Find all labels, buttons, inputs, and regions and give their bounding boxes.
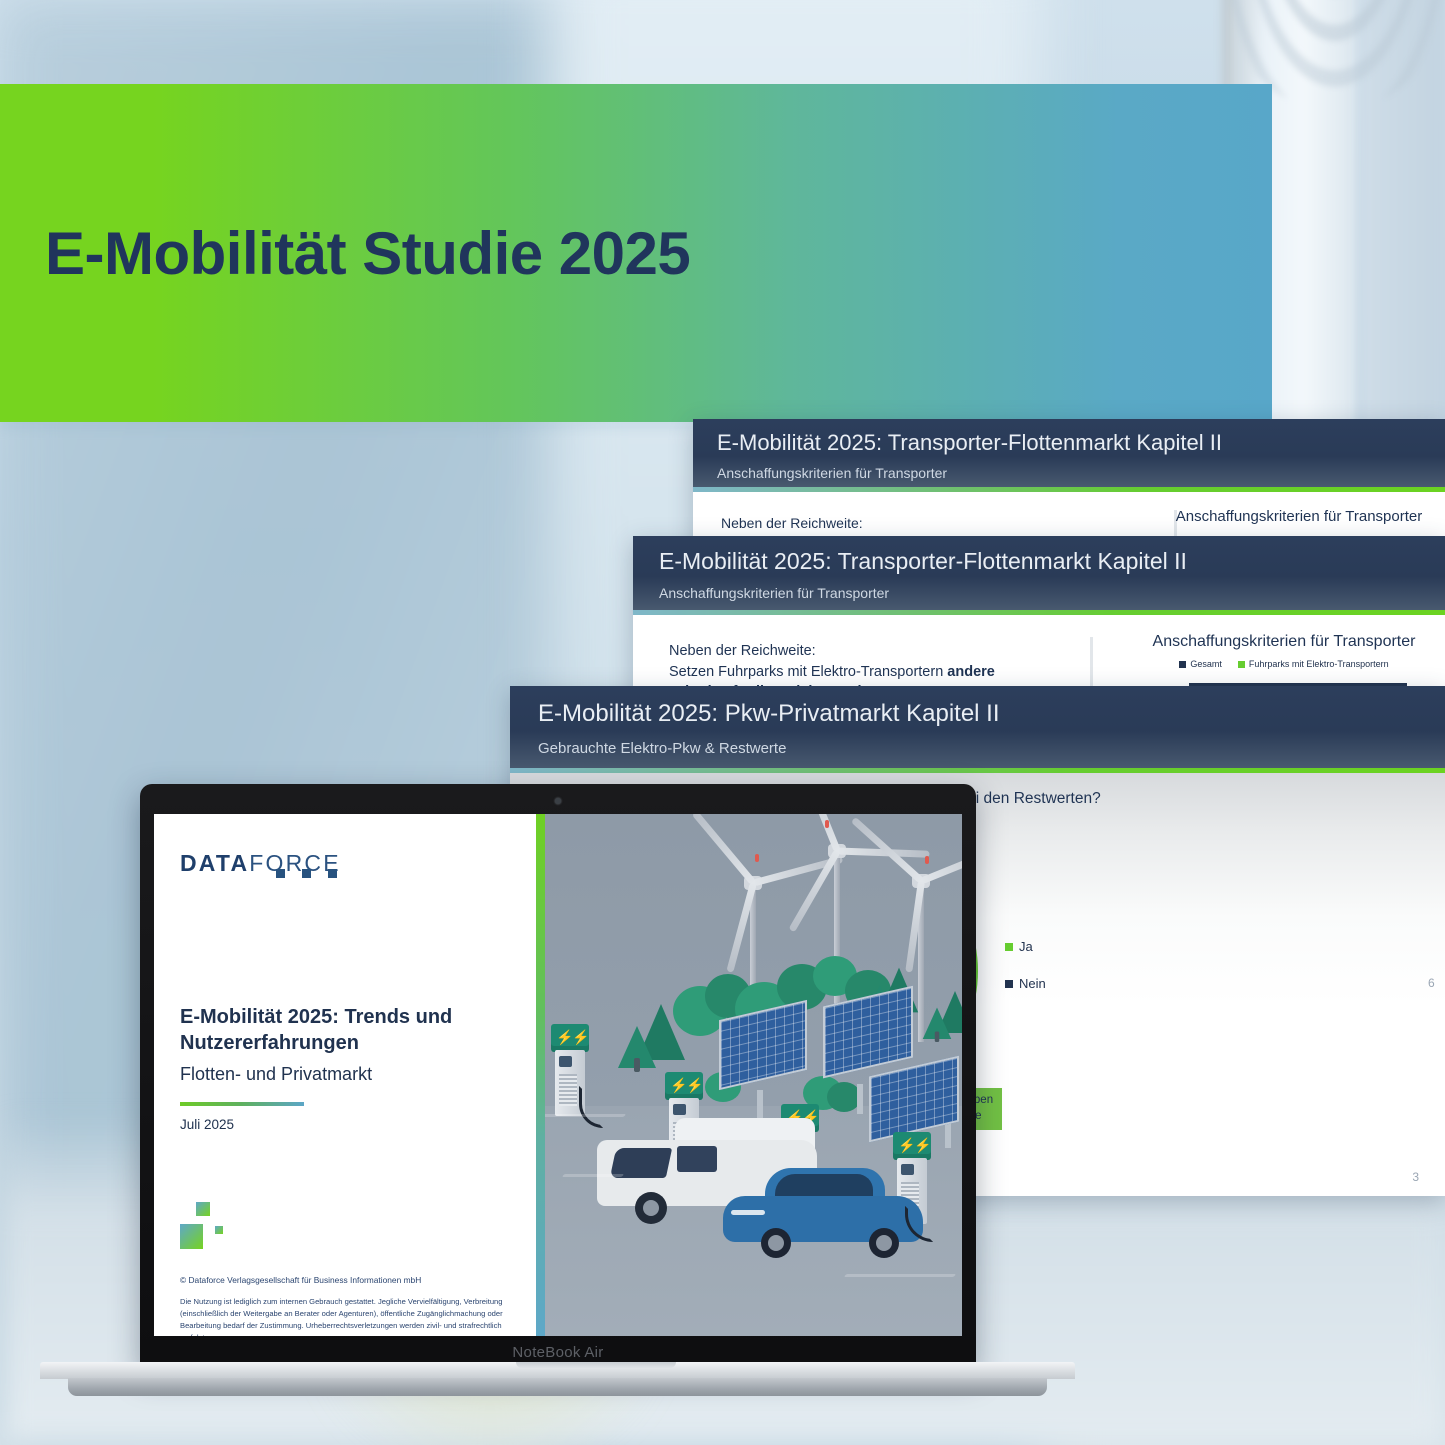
ev-scene-illustration: ⚡⚡ ⚡⚡ ⚡⚡	[545, 814, 962, 1336]
bush-icon	[827, 1082, 861, 1112]
car-wheel-rear	[869, 1228, 899, 1258]
question-line-2b: andere	[947, 664, 995, 680]
slide-subtitle: Anschaffungskriterien für Transporter	[717, 465, 947, 481]
turbine-blade	[691, 814, 755, 885]
decorative-squares-icon	[180, 1202, 250, 1262]
van-side-window	[677, 1146, 717, 1172]
title-slide-heading: E-Mobilität 2025: Trends und Nutzererfah…	[180, 1004, 510, 1057]
bolt-icon: ⚡	[898, 1138, 915, 1152]
question-line-1: Neben der Reichweite:	[669, 643, 816, 659]
chart-title: Anschaffungskriterien für Transporter	[1123, 633, 1445, 651]
slide-title: E-Mobilität 2025: Pkw-Privatmarkt Kapite…	[538, 700, 1000, 728]
bolt-icon: ⚡	[556, 1030, 573, 1044]
van-wheel-front	[635, 1192, 667, 1224]
laptop-mockup: DATAFORCE E-Mobilität 2025: Trends und N…	[40, 784, 1075, 1404]
turbine-blade	[788, 849, 840, 932]
wheel-hub	[876, 1235, 892, 1251]
solar-panel-leg	[945, 1122, 951, 1148]
fir-tree-icon	[937, 991, 962, 1033]
ground-streak	[844, 1274, 956, 1277]
question-line-2a: Setzen Fuhrparks mit Elektro-Transporter…	[669, 664, 947, 680]
bolt-icon: ⚡	[572, 1030, 589, 1044]
charger-cap: ⚡⚡	[893, 1132, 931, 1160]
legend-item-gesamt: Gesamt	[1179, 659, 1222, 669]
legal-text: Die Nutzung ist lediglich zum internen G…	[180, 1296, 520, 1336]
title-slide-date: Juli 2025	[180, 1117, 234, 1132]
car-wheel-front	[761, 1228, 791, 1258]
charger-cap: ⚡⚡	[551, 1024, 589, 1052]
laptop-brand-label: NoteBook Air	[512, 1344, 603, 1361]
chart-legend: Gesamt Fuhrparks mit Elektro-Transporter…	[1123, 659, 1445, 669]
bolt-icon: ⚡	[686, 1078, 703, 1092]
logo-square-3	[328, 869, 337, 878]
wheel-hub	[643, 1200, 659, 1216]
decor-square-1	[196, 1202, 210, 1216]
title-slide-illustration: ⚡⚡ ⚡⚡ ⚡⚡	[545, 814, 962, 1336]
fir-trunk	[935, 1032, 940, 1043]
charger-vent	[559, 1074, 577, 1106]
laptop-screen[interactable]: DATAFORCE E-Mobilität 2025: Trends und N…	[154, 814, 962, 1336]
slide-header: E-Mobilität 2025: Transporter-Flottenmar…	[633, 536, 1445, 610]
laptop-base	[40, 1362, 1075, 1402]
slide-title: E-Mobilität 2025: Transporter-Flottenmar…	[717, 430, 1222, 456]
legend-swatch-gesamt	[1179, 661, 1186, 668]
hero-banner: E-Mobilität Studie 2025	[0, 84, 1272, 422]
electric-car-icon	[723, 1166, 933, 1266]
turbine-mast	[834, 852, 840, 1024]
outer-page-number: 6	[1428, 976, 1435, 990]
slide-page-number: 3	[1412, 1170, 1419, 1184]
turbine-tip	[825, 820, 829, 828]
title-slide: DATAFORCE E-Mobilität 2025: Trends und N…	[154, 814, 962, 1336]
laptop-base-bottom	[68, 1378, 1047, 1396]
bolt-icon: ⚡	[670, 1078, 687, 1092]
slide-header: E-Mobilität 2025: Pkw-Privatmarkt Kapite…	[510, 686, 1445, 768]
fir-tree-icon	[637, 1004, 685, 1060]
copyright-text: © Dataforce Verlagsgesellschaft für Busi…	[180, 1274, 421, 1286]
laptop-base-notch	[516, 1362, 676, 1368]
slide-subtitle: Gebrauchte Elektro-Pkw & Restwerte	[538, 740, 786, 757]
title-slide-divider-strip	[536, 814, 545, 1336]
slide-header: E-Mobilität 2025: Transporter-Flottenmar…	[693, 419, 1445, 487]
slide-title: E-Mobilität 2025: Transporter-Flottenmar…	[659, 548, 1187, 575]
charger-screen	[559, 1056, 572, 1067]
turbine-tip	[925, 856, 929, 864]
turbine-tip	[755, 854, 759, 862]
webcam-icon	[555, 798, 561, 804]
title-slide-text-panel: DATAFORCE E-Mobilität 2025: Trends und N…	[154, 814, 536, 1336]
logo-squares-icon	[276, 869, 416, 881]
charger-cap: ⚡⚡	[665, 1072, 703, 1100]
ground-streak	[562, 1174, 624, 1177]
dataforce-logo: DATAFORCE	[180, 850, 341, 877]
wheel-hub	[768, 1235, 784, 1251]
decor-square-2	[180, 1224, 203, 1249]
solar-panel-leg	[857, 1084, 863, 1114]
slide-subtitle: Anschaffungskriterien für Transporter	[659, 585, 889, 601]
decor-square-3	[215, 1226, 223, 1234]
legend-swatch-elektro	[1238, 661, 1245, 668]
chart-title: Anschaffungskriterien für Transporter	[1153, 508, 1445, 525]
laptop-lid: DATAFORCE E-Mobilität 2025: Trends und N…	[140, 784, 976, 1368]
title-slide-subheading: Flotten- und Privatmarkt	[180, 1064, 372, 1085]
ground-streak	[545, 1114, 626, 1117]
title-slide-accent-bar	[180, 1102, 304, 1106]
legend-item-elektro: Fuhrparks mit Elektro-Transportern	[1238, 659, 1389, 669]
bolt-icon: ⚡	[914, 1138, 931, 1152]
question-line-1: Neben der Reichweite:	[721, 515, 863, 531]
fir-trunk	[634, 1058, 640, 1072]
page-title: E-Mobilität Studie 2025	[45, 219, 690, 288]
logo-square-2	[302, 869, 311, 878]
turbine-blade	[799, 814, 840, 852]
car-headlight	[731, 1210, 765, 1215]
logo-square-1	[276, 869, 285, 878]
